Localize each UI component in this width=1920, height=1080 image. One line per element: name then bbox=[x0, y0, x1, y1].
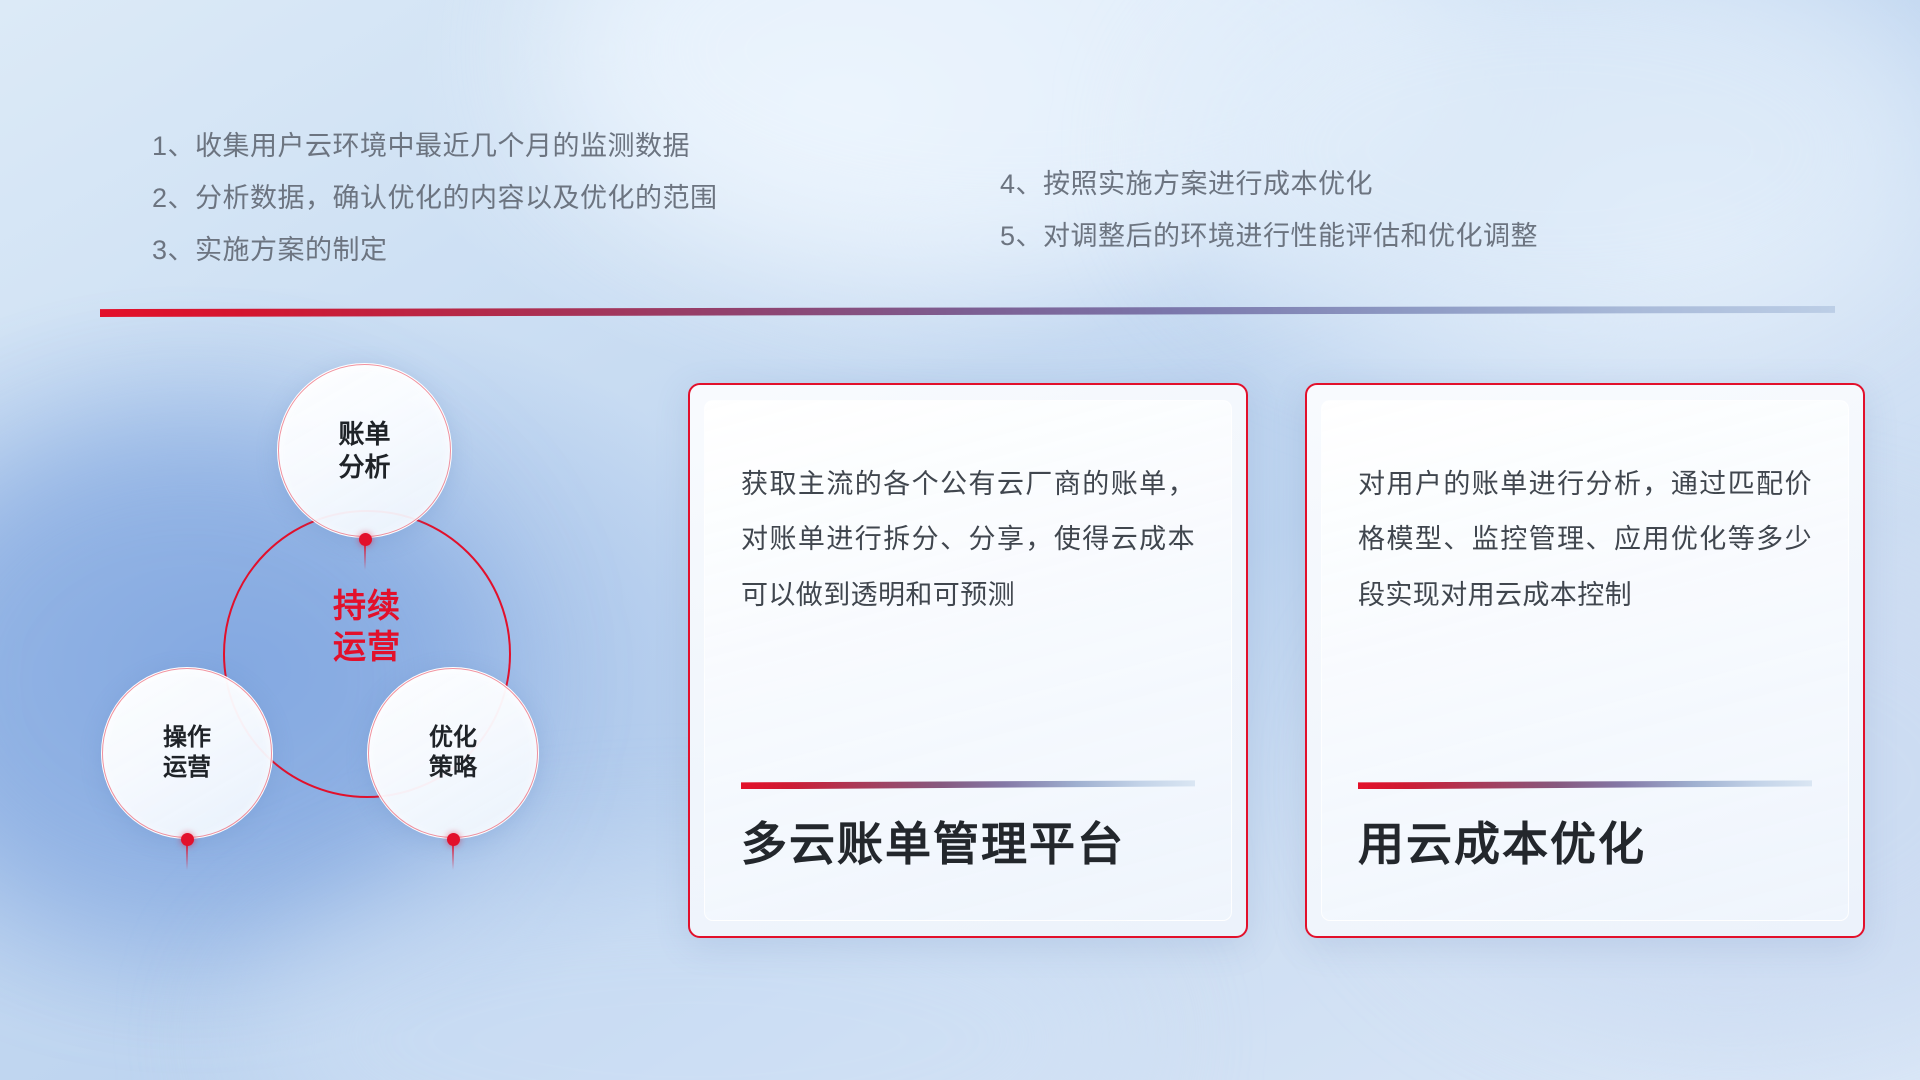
info-card-body: 获取主流的各个公有云厂商的账单，对账单进行拆分、分享，使得云成本可以做到透明和可… bbox=[741, 457, 1195, 623]
diagram-center-label-line1: 持续 bbox=[223, 586, 511, 627]
process-steps-left-column: 1、收集用户云环境中最近几个月的监测数据 2、分析数据，确认优化的内容以及优化的… bbox=[152, 120, 718, 276]
section-divider bbox=[100, 306, 1835, 317]
info-card-body: 对用户的账单进行分析，通过匹配价格模型、监控管理、应用优化等多少段实现对用云成本… bbox=[1358, 457, 1812, 623]
process-step-item: 4、按照实施方案进行成本优化 bbox=[1000, 158, 1538, 210]
slide-canvas: 1、收集用户云环境中最近几个月的监测数据 2、分析数据，确认优化的内容以及优化的… bbox=[0, 0, 1920, 1080]
info-card-inner: 获取主流的各个公有云厂商的账单，对账单进行拆分、分享，使得云成本可以做到透明和可… bbox=[704, 400, 1232, 921]
info-card-cloud-cost-optimization[interactable]: 对用户的账单进行分析，通过匹配价格模型、监控管理、应用优化等多少段实现对用云成本… bbox=[1305, 383, 1865, 938]
diagram-node-label-line2: 策略 bbox=[429, 753, 477, 783]
diagram-node-bill-analysis[interactable]: 账单 分析 bbox=[277, 363, 452, 538]
diagram-center-label-line2: 运营 bbox=[223, 627, 511, 668]
diagram-connector-top bbox=[364, 544, 366, 570]
diagram-connector-right bbox=[452, 844, 454, 870]
diagram-center-label: 持续 运营 bbox=[223, 586, 511, 668]
info-card-rule bbox=[741, 780, 1195, 789]
diagram-dot-right-icon bbox=[447, 833, 460, 846]
diagram-node-label-line1: 账单 bbox=[338, 418, 390, 451]
diagram-node-label-line2: 分析 bbox=[338, 451, 390, 484]
info-card-rule bbox=[1358, 780, 1812, 789]
info-card-title: 多云账单管理平台 bbox=[741, 819, 1195, 886]
diagram-node-label-line1: 优化 bbox=[429, 723, 477, 753]
diagram-node-label-line1: 操作 bbox=[163, 723, 211, 753]
process-step-item: 5、对调整后的环境进行性能评估和优化调整 bbox=[1000, 210, 1538, 262]
info-card-multi-cloud-billing[interactable]: 获取主流的各个公有云厂商的账单，对账单进行拆分、分享，使得云成本可以做到透明和可… bbox=[688, 383, 1248, 938]
diagram-node-optimization-strategy[interactable]: 优化 策略 bbox=[367, 667, 539, 839]
diagram-node-operations[interactable]: 操作 运营 bbox=[101, 667, 273, 839]
diagram-dot-left-icon bbox=[181, 833, 194, 846]
process-step-item: 3、实施方案的制定 bbox=[152, 224, 718, 276]
process-step-item: 1、收集用户云环境中最近几个月的监测数据 bbox=[152, 120, 718, 172]
diagram-connector-left bbox=[186, 844, 188, 870]
info-card-rule-bar bbox=[741, 780, 1195, 789]
info-card-inner: 对用户的账单进行分析，通过匹配价格模型、监控管理、应用优化等多少段实现对用云成本… bbox=[1321, 400, 1849, 921]
process-step-item: 2、分析数据，确认优化的内容以及优化的范围 bbox=[152, 172, 718, 224]
info-card-rule-bar bbox=[1358, 780, 1812, 789]
info-card-title: 用云成本优化 bbox=[1358, 819, 1812, 886]
section-divider-bar bbox=[100, 306, 1835, 317]
continuous-operation-diagram: 账单 分析 操作 运营 优化 策略 持续 运营 bbox=[95, 350, 625, 950]
diagram-dot-top-icon bbox=[359, 533, 372, 546]
diagram-node-label-line2: 运营 bbox=[163, 753, 211, 783]
process-steps-right-column: 4、按照实施方案进行成本优化 5、对调整后的环境进行性能评估和优化调整 bbox=[1000, 158, 1538, 262]
